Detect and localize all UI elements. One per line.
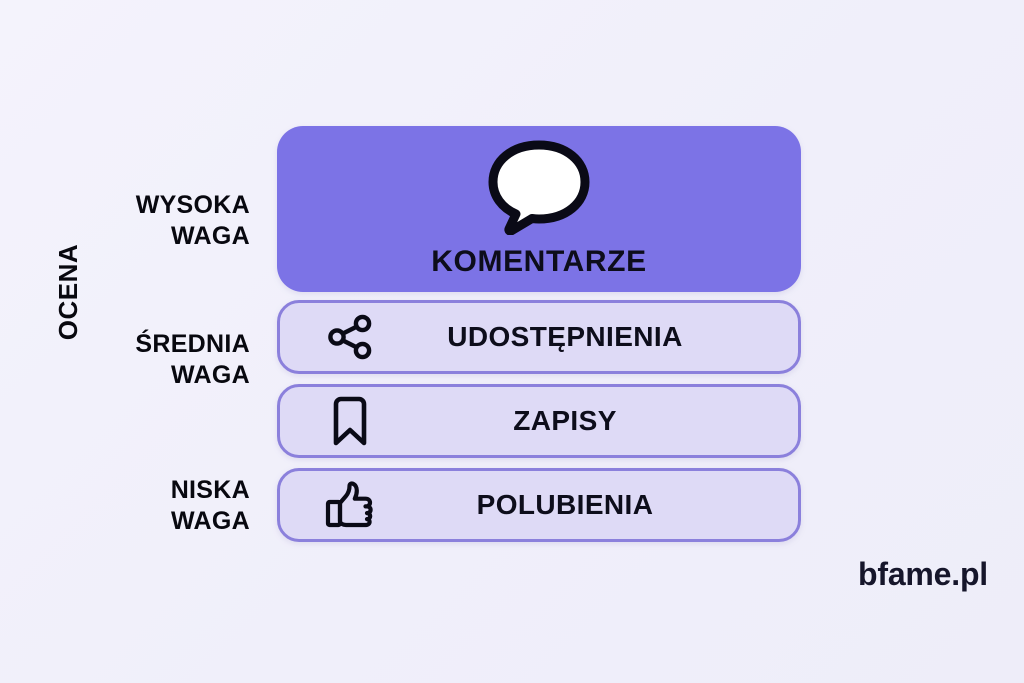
bar-komentarze: KOMENTARZE <box>277 126 801 292</box>
tier-label-high-line1: WYSOKA <box>30 190 250 221</box>
bar-udostepnienia: UDOSTĘPNIENIA <box>277 300 801 374</box>
bar-label-polubienia: POLUBIENIA <box>376 489 798 521</box>
bar-label-komentarze: KOMENTARZE <box>431 245 646 279</box>
tier-label-medium-line1: ŚREDNIA <box>30 329 250 360</box>
bar-polubienia: POLUBIENIA <box>277 468 801 542</box>
tier-label-low: NISKA WAGA <box>30 475 250 536</box>
infographic-canvas: OCENA WYSOKA WAGA ŚREDNIA WAGA NISKA WAG… <box>0 0 1024 683</box>
bar-label-zapisy: ZAPISY <box>376 405 798 437</box>
bar-zapisy: ZAPISY <box>277 384 801 458</box>
bar-stack: KOMENTARZE UDOSTĘPNIENIA <box>277 126 801 542</box>
tier-label-high-line2: WAGA <box>30 221 250 252</box>
watermark-bfame: bfame.pl <box>858 556 988 593</box>
speech-bubble-icon <box>485 139 593 235</box>
share-icon <box>324 311 376 363</box>
thumbs-up-icon <box>324 479 376 531</box>
tier-label-medium: ŚREDNIA WAGA <box>30 329 250 390</box>
tier-label-low-line2: WAGA <box>30 506 250 537</box>
tier-label-high: WYSOKA WAGA <box>30 190 250 251</box>
tier-label-low-line1: NISKA <box>30 475 250 506</box>
bookmark-icon <box>324 395 376 447</box>
bar-label-udostepnienia: UDOSTĘPNIENIA <box>376 321 798 353</box>
tier-label-medium-line2: WAGA <box>30 360 250 391</box>
labels-column: OCENA WYSOKA WAGA ŚREDNIA WAGA NISKA WAG… <box>10 0 250 683</box>
